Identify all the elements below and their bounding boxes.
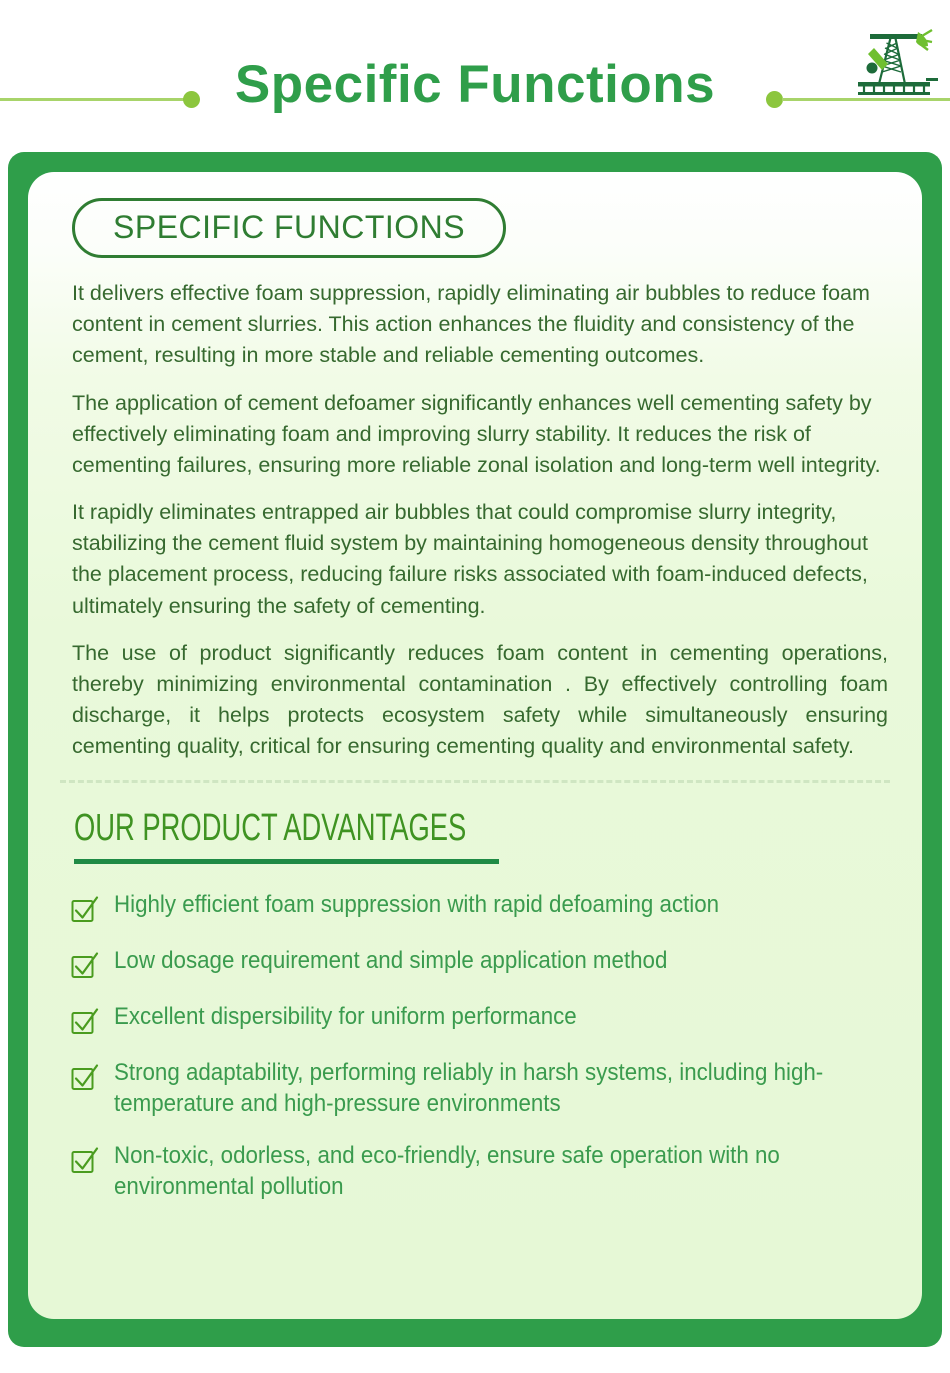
page-header: Specific Functions <box>0 0 950 150</box>
section-heading-label: SPECIFIC FUNCTIONS <box>113 209 465 245</box>
functions-paragraph: It rapidly eliminates entrapped air bubb… <box>72 497 888 622</box>
oil-derrick-icon <box>848 22 938 102</box>
checkbox-checked-icon <box>70 1007 100 1037</box>
checkbox-checked-icon <box>70 951 100 981</box>
advantage-text: Strong adaptability, performing reliably… <box>114 1058 830 1119</box>
functions-paragraph: The use of product significantly reduces… <box>72 638 888 763</box>
advantage-text: Highly efficient foam suppression with r… <box>114 890 830 921</box>
advantages-heading-group: OUR PRODUCT ADVANTAGES <box>74 809 894 864</box>
advantages-list: Highly efficient foam suppression with r… <box>56 890 894 1202</box>
advantage-text: Low dosage requirement and simple applic… <box>114 946 830 977</box>
section-divider <box>60 780 890 783</box>
content-card: SPECIFIC FUNCTIONS It delivers effective… <box>28 172 922 1319</box>
functions-paragraph: The application of cement defoamer signi… <box>72 388 888 482</box>
list-item: Highly efficient foam suppression with r… <box>70 890 884 925</box>
advantage-text: Excellent dispersibility for uniform per… <box>114 1002 830 1033</box>
page-title: Specific Functions <box>0 58 950 111</box>
list-item: Low dosage requirement and simple applic… <box>70 946 884 981</box>
list-item: Non-toxic, odorless, and eco-friendly, e… <box>70 1141 884 1202</box>
functions-paragraph: It delivers effective foam suppression, … <box>72 278 888 372</box>
content-frame: SPECIFIC FUNCTIONS It delivers effective… <box>8 152 942 1347</box>
advantages-heading: OUR PRODUCT ADVANTAGES <box>74 809 664 847</box>
advantage-text: Non-toxic, odorless, and eco-friendly, e… <box>114 1141 830 1202</box>
header-accent-dot-right <box>766 91 783 108</box>
advantages-heading-underline <box>74 859 499 864</box>
section-heading-pill: SPECIFIC FUNCTIONS <box>72 198 506 258</box>
checkbox-checked-icon <box>70 1146 100 1176</box>
checkbox-checked-icon <box>70 1063 100 1093</box>
checkbox-checked-icon <box>70 895 100 925</box>
functions-paragraph-list: It delivers effective foam suppression, … <box>56 278 894 762</box>
list-item: Strong adaptability, performing reliably… <box>70 1058 884 1119</box>
list-item: Excellent dispersibility for uniform per… <box>70 1002 884 1037</box>
